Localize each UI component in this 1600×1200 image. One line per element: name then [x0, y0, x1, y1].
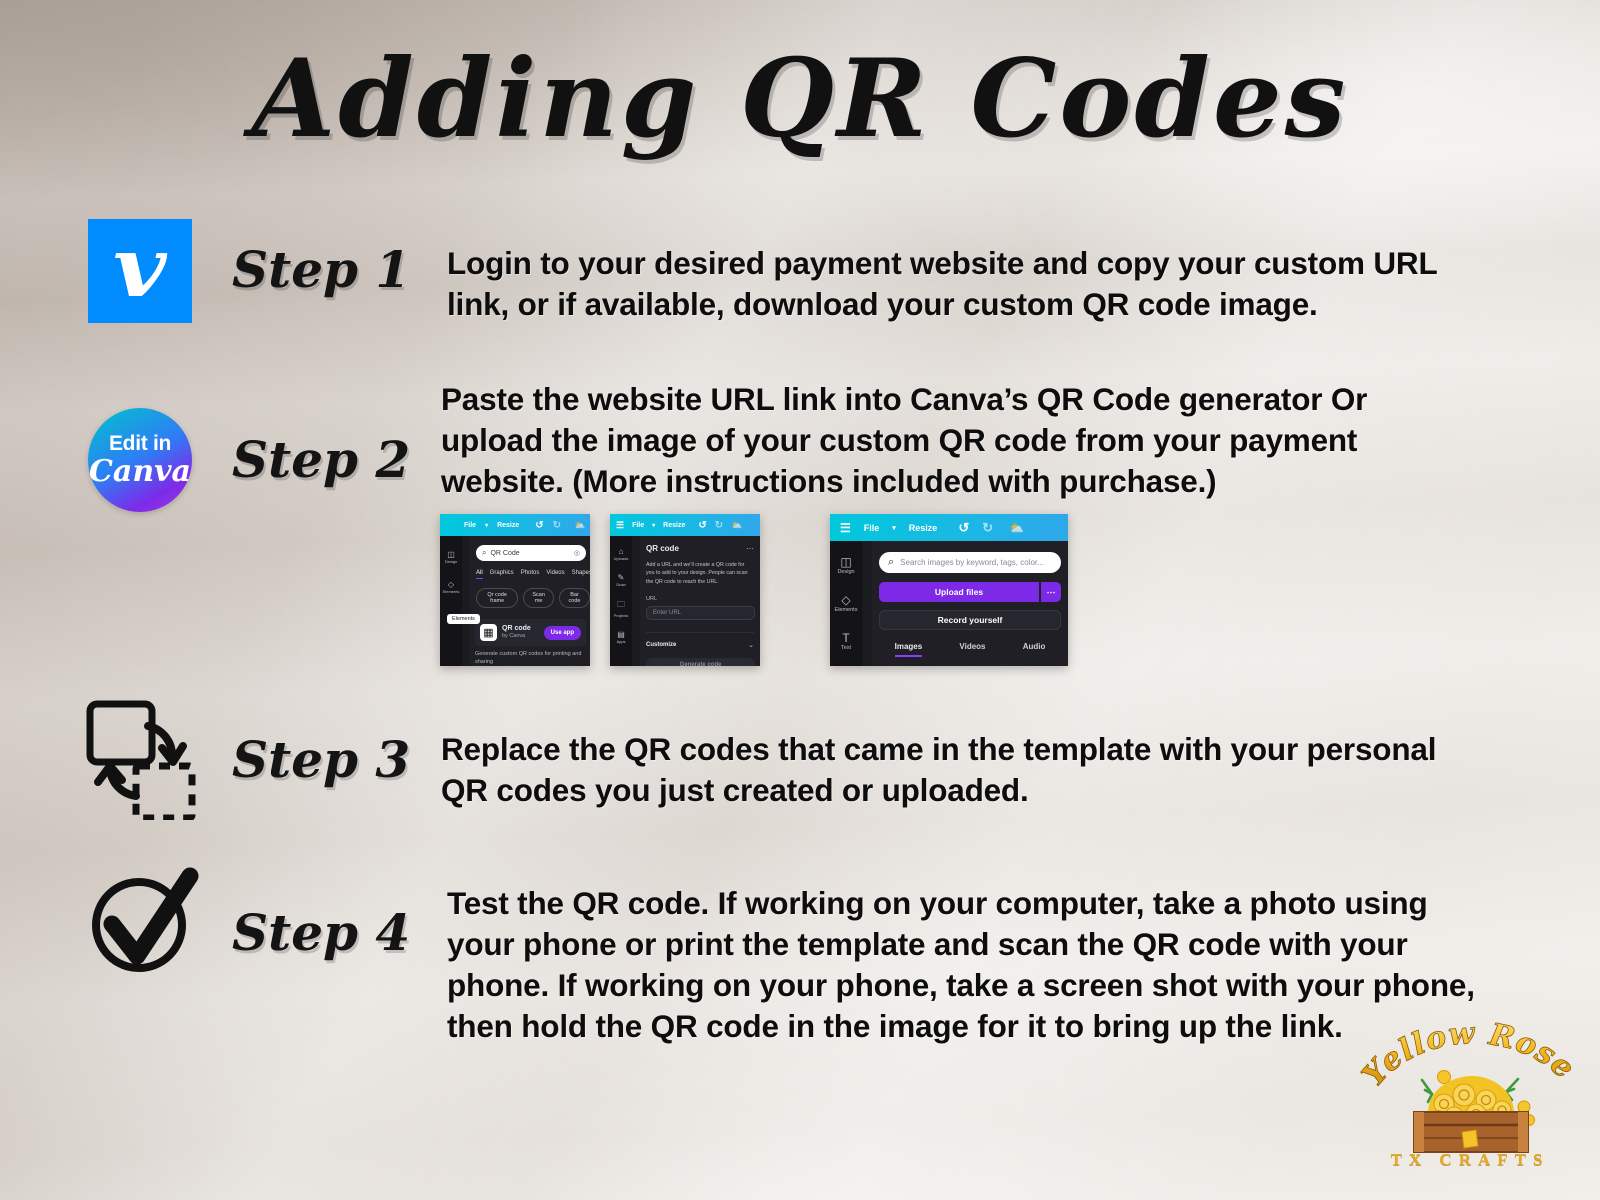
tab-videos[interactable]: Videos [959, 642, 985, 657]
cloud-saved-icon[interactable]: ⛅ [1009, 521, 1024, 535]
sidebar-label: Draw [616, 582, 625, 587]
search-input[interactable]: ⌕ Search images by keyword, tags, color.… [879, 552, 1061, 573]
chevron-down-icon: ⌄ [748, 641, 754, 649]
sidebar-label: Apps [616, 639, 625, 644]
canva-search-panel: ⌕ QR Code ◎ All Graphics Photos Videos S… [470, 536, 590, 666]
tab-shapes[interactable]: Shapes [572, 570, 590, 579]
upload-more-options-icon[interactable]: ⋯ [1041, 582, 1061, 602]
use-app-button[interactable]: Use app [544, 626, 581, 640]
search-input[interactable]: ⌕ QR Code ◎ [476, 545, 586, 561]
canva-sidebar-rail: ◫Design ◇Elements TText [830, 541, 862, 666]
step-label-1: Step 1 [232, 240, 432, 299]
elements-icon: ◇ [835, 593, 858, 607]
clear-icon[interactable]: ◎ [574, 549, 580, 557]
panel-title: QR code [646, 544, 679, 553]
search-icon: ⌕ [888, 556, 894, 569]
url-label: URL [646, 596, 760, 602]
step-text-1: Login to your desired payment website an… [447, 243, 1477, 325]
customize-label: Customize [646, 642, 676, 648]
qr-code-thumbnail-icon: ▦ [480, 624, 497, 641]
venmo-logo-icon: v [88, 219, 192, 323]
edit-in-canva-badge-icon: Edit in Canva [88, 408, 192, 512]
chevron-down-icon: ▾ [485, 522, 488, 529]
search-icon: ⌕ [482, 548, 486, 558]
chip-scan-me[interactable]: Scan me [523, 588, 554, 608]
canva-badge-line2: Canva [89, 456, 191, 488]
sidebar-label: Design [837, 569, 854, 575]
projects-folder-icon: 🗀 [614, 599, 628, 613]
record-yourself-button[interactable]: Record yourself [879, 610, 1061, 630]
tab-photos[interactable]: Photos [521, 570, 540, 579]
filter-chips: Qr code frame Scan me Bar code [476, 588, 590, 608]
step-label-4: Step 4 [232, 903, 432, 962]
tab-graphics[interactable]: Graphics [490, 570, 514, 579]
canva-screenshot-elements-search: File ▾ Resize ↺ ↻ ⛅ ◫Design ◇Elements ⌕ … [440, 514, 590, 666]
uploads-panel: ⌕ Search images by keyword, tags, color.… [872, 541, 1068, 666]
sidebar-item-apps[interactable]: ▤Apps [616, 630, 625, 644]
panel-header: QR code ⋯ [646, 544, 754, 553]
design-icon: ◫ [445, 550, 457, 559]
search-placeholder: Search images by keyword, tags, color... [900, 558, 1044, 567]
resize-menu[interactable]: Resize [663, 522, 685, 529]
canva-topbar: ☰ File ▾ Resize ↺ ↻ ⛅ [610, 514, 760, 536]
canva-sidebar-rail: ◫Design ◇Elements [440, 536, 462, 666]
sidebar-item-uploads[interactable]: ⌂Uploads [614, 547, 629, 561]
app-title: QR code [502, 625, 531, 634]
sidebar-label: Projects [614, 613, 628, 618]
sidebar-item-projects[interactable]: 🗀Projects [614, 599, 628, 618]
sidebar-item-elements[interactable]: ◇Elements [443, 580, 460, 594]
canva-badge-line1: Edit in [109, 433, 171, 454]
url-placeholder: Enter URL [653, 610, 681, 616]
hamburger-icon[interactable]: ☰ [616, 520, 624, 531]
undo-icon[interactable]: ↺ [958, 520, 969, 536]
swap-replace-icon [86, 700, 206, 820]
tab-videos[interactable]: Videos [546, 570, 564, 579]
step-label-3: Step 3 [232, 730, 432, 789]
resize-menu[interactable]: Resize [909, 523, 938, 533]
circle-check-icon [86, 866, 204, 976]
canva-sidebar-rail: ⌂Uploads ✎Draw 🗀Projects ▤Apps [610, 536, 632, 666]
sidebar-label: Design [445, 559, 457, 564]
canva-topbar: ☰ File ▾ Resize ↺ ↻ ⛅ [830, 514, 1068, 541]
sidebar-label: Uploads [614, 556, 629, 561]
hamburger-icon[interactable]: ☰ [840, 521, 851, 535]
elements-tooltip: Elements [447, 614, 480, 624]
file-menu[interactable]: File [632, 522, 644, 529]
cloud-saved-icon[interactable]: ⛅ [731, 520, 742, 531]
design-icon: ◫ [837, 555, 854, 569]
tab-images[interactable]: Images [895, 642, 923, 657]
generate-code-button[interactable]: Generate code [646, 658, 755, 666]
customize-row[interactable]: Customize ⌄ [646, 632, 754, 649]
sidebar-label: Text [841, 645, 851, 651]
brand-logo: Yellow Rose [1360, 1008, 1580, 1186]
undo-icon[interactable]: ↺ [698, 520, 706, 531]
filter-tabs: All Graphics Photos Videos Shapes [476, 570, 590, 579]
upload-files-button[interactable]: Upload files [879, 582, 1039, 602]
rose-crate-illustration [1398, 1060, 1544, 1156]
tab-audio[interactable]: Audio [1023, 642, 1046, 657]
step-text-2: Paste the website URL link into Canva’s … [441, 379, 1451, 502]
undo-icon[interactable]: ↺ [535, 520, 543, 531]
redo-icon[interactable]: ↻ [982, 520, 993, 536]
logo-subtitle: TX CRAFTS [1360, 1150, 1580, 1170]
canva-screenshot-uploads: ☰ File ▾ Resize ↺ ↻ ⛅ ◫Design ◇Elements … [830, 514, 1068, 666]
media-tabs: Images Videos Audio [876, 642, 1064, 657]
draw-pen-icon: ✎ [616, 573, 625, 582]
sidebar-item-design[interactable]: ◫Design [445, 550, 457, 564]
chip-qr-code-frame[interactable]: Qr code frame [476, 588, 518, 608]
sidebar-label: Elements [443, 589, 460, 594]
redo-icon[interactable]: ↻ [715, 520, 723, 531]
sidebar-item-design[interactable]: ◫Design [837, 555, 854, 575]
search-value: QR Code [490, 550, 519, 557]
chevron-down-icon: ▾ [892, 524, 896, 532]
upload-button-group: Upload files ⋯ [879, 582, 1061, 602]
more-options-icon[interactable]: ⋯ [746, 544, 754, 553]
apps-grid-icon: ▤ [616, 630, 625, 639]
canva-screenshot-qr-generator: ☰ File ▾ Resize ↺ ↻ ⛅ ⌂Uploads ✎Draw 🗀Pr… [610, 514, 760, 666]
sidebar-item-draw[interactable]: ✎Draw [616, 573, 625, 587]
step-text-3: Replace the QR codes that came in the te… [441, 729, 1471, 811]
resize-menu[interactable]: Resize [497, 522, 519, 529]
canva-topbar: File ▾ Resize ↺ ↻ ⛅ [440, 514, 590, 536]
poster-canvas: Adding QR Codes v Step 1 Login to your d… [0, 0, 1600, 1200]
file-menu[interactable]: File [864, 523, 880, 533]
page-title: Adding QR Codes [0, 36, 1600, 162]
app-author: by Canva [502, 633, 531, 640]
elements-icon: ◇ [443, 580, 460, 589]
sidebar-item-elements[interactable]: ◇Elements [835, 593, 858, 613]
chevron-down-icon: ▾ [652, 522, 655, 529]
tab-all[interactable]: All [476, 570, 483, 579]
qr-code-panel: QR code ⋯ Add a URL and we’ll create a Q… [640, 536, 760, 666]
file-menu[interactable]: File [464, 522, 476, 529]
cloud-saved-icon[interactable]: ⛅ [574, 520, 585, 531]
panel-description: Add a URL and we’ll create a QR code for… [646, 561, 752, 586]
step-text-4: Test the QR code. If working on your com… [447, 883, 1482, 1047]
uploads-icon: ⌂ [614, 547, 629, 556]
app-result-row[interactable]: ▦ QR code by Canva Use app [475, 619, 586, 646]
redo-icon[interactable]: ↻ [553, 520, 561, 531]
venmo-letter: v [113, 227, 166, 309]
chip-bar-code[interactable]: Bar code [559, 588, 590, 608]
text-icon: T [841, 631, 851, 645]
app-description: Generate custom QR codes for printing an… [475, 651, 585, 666]
sidebar-item-text[interactable]: TText [841, 631, 851, 651]
url-input[interactable]: Enter URL [646, 606, 755, 620]
step-label-2: Step 2 [232, 430, 432, 489]
sidebar-label: Elements [835, 607, 858, 613]
